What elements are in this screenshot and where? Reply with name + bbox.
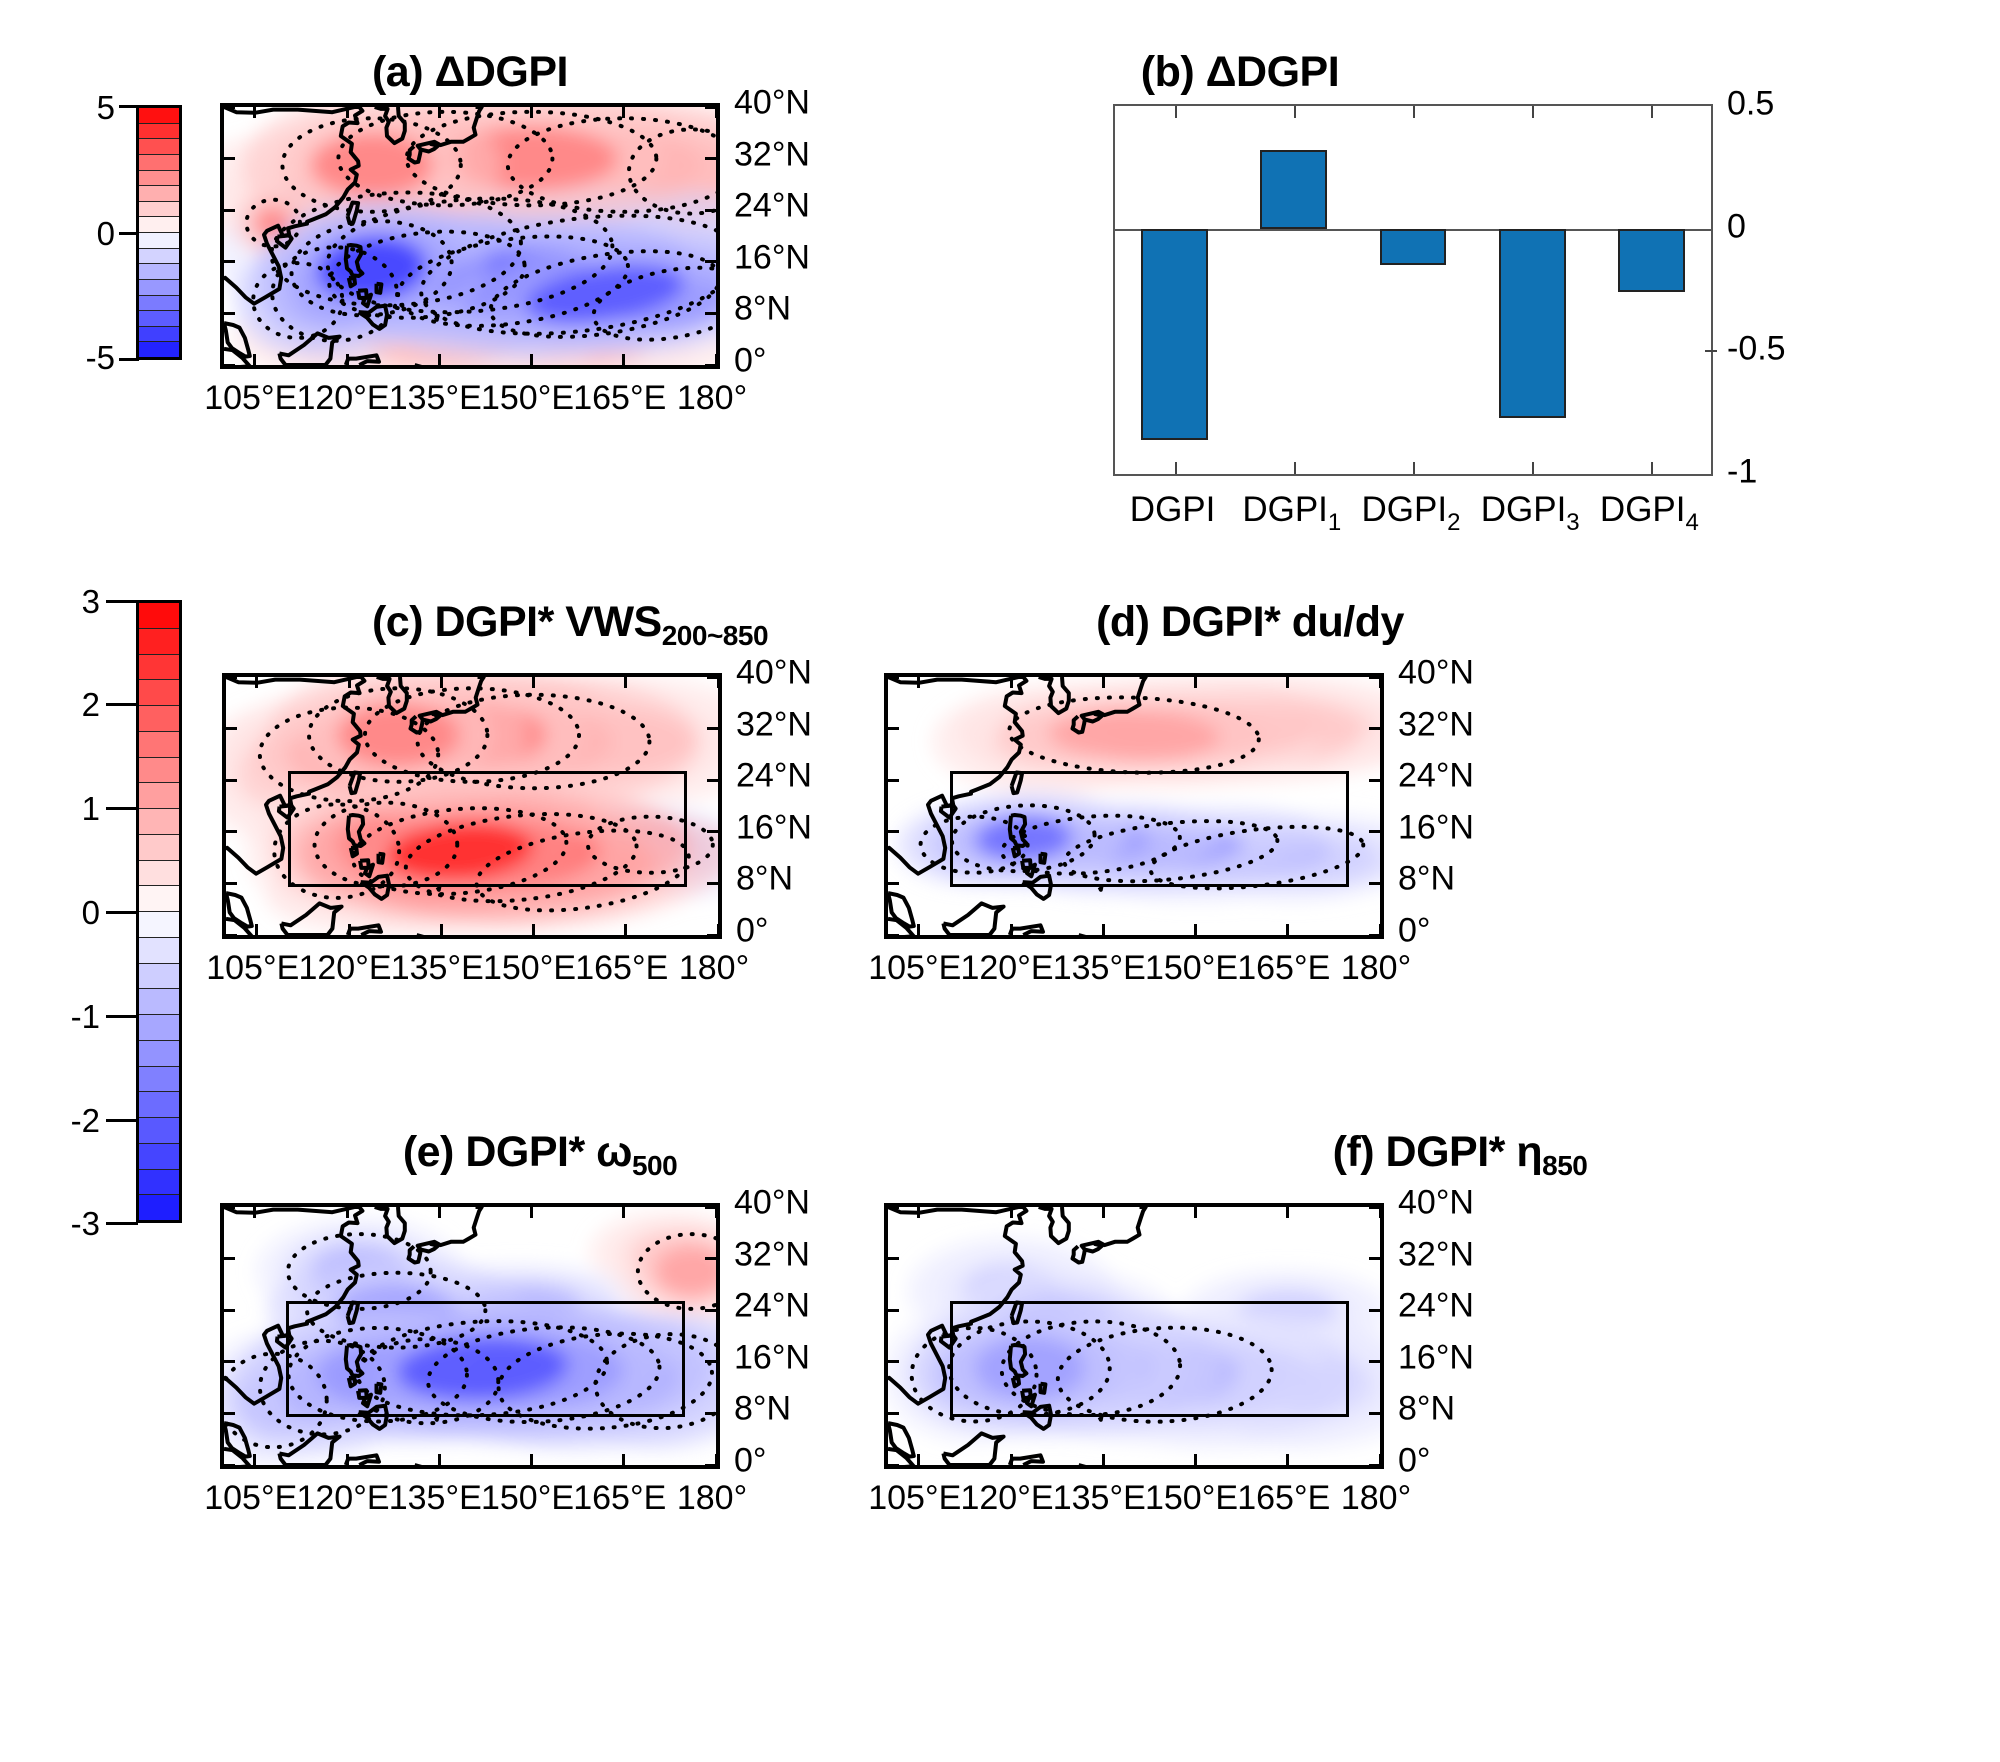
panel-b-title: (b) ΔDGPI <box>1020 48 1460 97</box>
lat-label: 24°N <box>734 187 810 226</box>
lon-label: 120°E <box>960 949 1053 988</box>
bar <box>1618 229 1685 293</box>
lat-label: 32°N <box>1398 1235 1474 1274</box>
analysis-region-box <box>950 771 1350 887</box>
panel-e-map <box>220 1203 720 1469</box>
lat-tick <box>888 1206 899 1209</box>
lon-tick <box>346 1454 349 1465</box>
lat-label: 40°N <box>736 654 812 693</box>
lon-tick <box>1102 924 1105 935</box>
colorbar-a <box>136 105 182 360</box>
coastline <box>1010 925 1043 935</box>
lon-tick <box>1102 677 1105 688</box>
bar <box>1260 150 1327 229</box>
lon-label: 150°E <box>1145 1479 1238 1518</box>
lon-tick <box>1286 1207 1289 1218</box>
analysis-region-box <box>950 1301 1350 1417</box>
colorbar-swatch <box>139 327 179 343</box>
colorbar-swatch <box>139 732 179 758</box>
lat-tick <box>1369 1257 1380 1260</box>
colorbar-swatch <box>139 861 179 887</box>
x-category-base: DGPI <box>1130 490 1216 529</box>
colorbar-swatch <box>139 886 179 912</box>
lat-tick <box>1369 1464 1380 1467</box>
lon-label: 135°E <box>1053 1479 1146 1518</box>
lon-tick <box>1286 677 1289 688</box>
lon-tick <box>530 1454 533 1465</box>
colorbar-swatch <box>139 603 179 629</box>
colorbar-swatch <box>139 1118 179 1144</box>
lon-tick <box>917 924 920 935</box>
lon-tick <box>1194 924 1197 935</box>
lat-tick <box>1369 830 1380 833</box>
lat-tick <box>224 106 235 109</box>
x-tick <box>1651 106 1653 118</box>
lon-tick <box>253 354 256 365</box>
lon-tick <box>438 1454 441 1465</box>
lon-label: 180° <box>1341 949 1411 988</box>
lon-label: 105°E <box>204 1479 297 1518</box>
colorbar-swatch <box>139 217 179 233</box>
colorbar-swatch <box>139 912 179 938</box>
bar <box>1499 229 1566 418</box>
coastline <box>1010 1455 1043 1465</box>
lat-tick <box>1369 727 1380 730</box>
panel-f-title-text: (f) DGPI* η <box>1333 1128 1542 1176</box>
lat-tick <box>224 1309 235 1312</box>
lon-label: 165°E <box>1237 949 1330 988</box>
colorbar-a-label-min: -5 <box>55 339 115 377</box>
colorbar-cdef-label-2: 2 <box>55 686 100 724</box>
lon-tick <box>715 107 718 118</box>
colorbar-cdef-label-m2: -2 <box>40 1102 100 1140</box>
lon-tick <box>255 677 258 688</box>
x-category-subscript: 4 <box>1686 509 1699 536</box>
lat-label: 24°N <box>1398 757 1474 796</box>
lon-tick <box>715 1207 718 1218</box>
lat-tick <box>226 934 237 937</box>
lon-tick <box>438 1207 441 1218</box>
lon-tick <box>253 107 256 118</box>
lat-tick <box>705 209 716 212</box>
lon-label: 120°E <box>296 379 389 418</box>
colorbar-a-tick-max <box>119 105 139 108</box>
colorbar-swatch <box>139 1041 179 1067</box>
colorbar-cdef-tick-0 <box>106 911 138 914</box>
colorbar-swatch <box>139 124 179 140</box>
lat-tick <box>1369 1412 1380 1415</box>
lat-tick <box>705 1360 716 1363</box>
panel-e-title-sub: 500 <box>632 1150 677 1181</box>
lon-tick <box>622 1454 625 1465</box>
lat-tick <box>707 727 718 730</box>
panel-c-title-sub: 200~850 <box>662 620 768 651</box>
lat-tick <box>705 260 716 263</box>
lon-label: 105°E <box>868 1479 961 1518</box>
lat-tick <box>707 676 718 679</box>
colorbar-swatch <box>139 809 179 835</box>
coastline <box>436 1417 438 1420</box>
x-tick <box>1413 106 1415 118</box>
lat-tick <box>1369 934 1380 937</box>
lat-tick <box>1369 676 1380 679</box>
x-tick <box>1175 462 1177 474</box>
colorbar-swatch <box>139 989 179 1015</box>
lon-tick <box>253 1207 256 1218</box>
lon-label: 165°E <box>573 1479 666 1518</box>
colorbar-swatch <box>139 758 179 784</box>
lat-label: 32°N <box>736 705 812 744</box>
lat-label: 24°N <box>736 757 812 796</box>
lat-label: 8°N <box>734 290 791 329</box>
lat-tick <box>707 830 718 833</box>
lon-tick <box>917 677 920 688</box>
coastline <box>1100 887 1102 890</box>
colorbar-swatch <box>139 1144 179 1170</box>
lat-tick <box>707 779 718 782</box>
lon-label: 135°E <box>389 379 482 418</box>
colorbar-swatch <box>139 108 179 124</box>
coastline <box>346 1455 379 1465</box>
colorbar-swatch <box>139 155 179 171</box>
lat-label: 8°N <box>1398 1390 1455 1429</box>
colorbar-swatch <box>139 139 179 155</box>
lat-tick <box>226 830 237 833</box>
panel-c-map <box>222 673 722 939</box>
lon-tick <box>440 924 443 935</box>
lon-tick <box>1010 924 1013 935</box>
x-category-label: DGPI <box>1130 490 1216 530</box>
x-category-subscript: 3 <box>1566 509 1579 536</box>
lat-tick <box>705 1206 716 1209</box>
lon-label: 150°E <box>1145 949 1238 988</box>
lat-tick <box>226 676 237 679</box>
x-category-base: DGPI <box>1362 490 1448 529</box>
lon-tick <box>1286 1454 1289 1465</box>
colorbar-swatch <box>139 233 179 249</box>
lat-tick <box>226 779 237 782</box>
lat-tick <box>224 209 235 212</box>
panel-f-title-sub: 850 <box>1542 1150 1587 1181</box>
lat-tick <box>705 1257 716 1260</box>
coastline <box>1039 1207 1069 1243</box>
coastline <box>1100 1417 1102 1420</box>
lon-tick <box>346 354 349 365</box>
lon-label: 180° <box>679 949 749 988</box>
lat-label: 16°N <box>734 1338 810 1377</box>
lon-tick <box>530 107 533 118</box>
panel-f-title: (f) DGPI* η850 <box>1230 1128 1690 1182</box>
lon-tick <box>346 107 349 118</box>
lon-tick <box>1010 1207 1013 1218</box>
lat-tick <box>888 1412 899 1415</box>
bar <box>1141 229 1208 440</box>
y-axis-label: 0.5 <box>1727 85 1774 124</box>
lon-tick <box>622 354 625 365</box>
lat-tick <box>888 1464 899 1467</box>
lat-label: 40°N <box>734 1184 810 1223</box>
lat-tick <box>888 1257 899 1260</box>
lon-tick <box>1010 677 1013 688</box>
lon-tick <box>1194 1207 1197 1218</box>
colorbar-swatch <box>139 1015 179 1041</box>
panel-b-title-text: (b) ΔDGPI <box>1141 48 1339 96</box>
colorbar-swatch <box>139 1170 179 1196</box>
lon-tick <box>1379 1207 1382 1218</box>
lat-label: 24°N <box>1398 1287 1474 1326</box>
lat-label: 40°N <box>734 84 810 123</box>
lat-label: 32°N <box>734 135 810 174</box>
colorbar-cdef-label-0: 0 <box>55 894 100 932</box>
lat-tick <box>888 1360 899 1363</box>
colorbar-cdef-tick-m1 <box>106 1015 138 1018</box>
lat-label: 8°N <box>734 1390 791 1429</box>
x-category-base: DGPI <box>1600 490 1686 529</box>
panel-b-barchart <box>1113 104 1713 476</box>
lat-label: 40°N <box>1398 654 1474 693</box>
lon-label: 135°E <box>1053 949 1146 988</box>
lat-label: 24°N <box>734 1287 810 1326</box>
x-category-label: DGPI4 <box>1600 490 1699 537</box>
map-canvas <box>224 107 716 365</box>
lon-tick <box>532 924 535 935</box>
lon-tick <box>1102 1454 1105 1465</box>
lon-tick <box>1194 1454 1197 1465</box>
coastline <box>438 887 440 890</box>
lon-tick <box>440 677 443 688</box>
y-axis-label: -1 <box>1727 453 1757 492</box>
x-tick <box>1532 462 1534 474</box>
lat-tick <box>1369 1360 1380 1363</box>
lon-label: 180° <box>677 1479 747 1518</box>
colorbar-swatch <box>139 629 179 655</box>
colorbar-a-tick-min <box>119 358 139 361</box>
x-category-label: DGPI1 <box>1242 490 1341 537</box>
colorbar-swatch <box>139 783 179 809</box>
lon-tick <box>1286 924 1289 935</box>
colorbar-swatch <box>139 1195 179 1220</box>
lat-tick <box>224 260 235 263</box>
lon-label: 120°E <box>960 1479 1053 1518</box>
lon-label: 105°E <box>204 379 297 418</box>
colorbar-cdef-label-m3: -3 <box>40 1205 100 1243</box>
lat-label: 0° <box>1398 912 1431 951</box>
y-tick <box>1705 350 1717 352</box>
lat-tick <box>224 1257 235 1260</box>
lon-label: 150°E <box>483 949 576 988</box>
colorbar-cdef-label-3: 3 <box>55 583 100 621</box>
lon-tick <box>1010 1454 1013 1465</box>
lat-tick <box>224 312 235 315</box>
lat-tick <box>1369 1206 1380 1209</box>
lon-tick <box>622 107 625 118</box>
lon-label: 150°E <box>481 1479 574 1518</box>
colorbar-swatch <box>139 311 179 327</box>
lat-tick <box>888 727 899 730</box>
analysis-region-box <box>286 1301 686 1417</box>
lon-label: 105°E <box>868 949 961 988</box>
lon-label: 135°E <box>391 949 484 988</box>
colorbar-swatch <box>139 1092 179 1118</box>
lat-tick <box>707 882 718 885</box>
lon-tick <box>1194 677 1197 688</box>
panel-a-title: (a) ΔDGPI <box>220 48 720 97</box>
lat-tick <box>1369 779 1380 782</box>
colorbar-swatch <box>139 1067 179 1093</box>
lat-tick <box>226 727 237 730</box>
panel-c-title: (c) DGPI* VWS200~850 <box>250 598 890 652</box>
lon-tick <box>438 107 441 118</box>
lat-tick <box>226 882 237 885</box>
lon-label: 180° <box>677 379 747 418</box>
lat-label: 0° <box>734 1442 767 1481</box>
coastline <box>1073 1207 1146 1263</box>
x-tick <box>1294 462 1296 474</box>
colorbar-cdef-label-m1: -1 <box>40 998 100 1036</box>
lon-label: 165°E <box>1237 1479 1330 1518</box>
panel-a-title-text: (a) ΔDGPI <box>372 48 568 96</box>
lon-tick <box>624 677 627 688</box>
lon-label: 105°E <box>206 949 299 988</box>
lat-tick <box>888 676 899 679</box>
colorbar-a-label-max: 5 <box>70 89 115 127</box>
lat-tick <box>888 934 899 937</box>
coastline <box>377 284 382 293</box>
x-category-base: DGPI <box>1481 490 1567 529</box>
colorbar-swatch <box>139 655 179 681</box>
lon-label: 135°E <box>389 1479 482 1518</box>
lon-tick <box>346 1207 349 1218</box>
lat-label: 0° <box>736 912 769 951</box>
lon-tick <box>438 354 441 365</box>
x-category-base: DGPI <box>1242 490 1328 529</box>
colorbar-cdef <box>136 600 182 1223</box>
lat-label: 32°N <box>734 1235 810 1274</box>
panel-c-title-text: (c) DGPI* VWS <box>372 598 662 646</box>
lat-tick <box>705 1309 716 1312</box>
colorbar-swatch <box>139 706 179 732</box>
lon-label: 150°E <box>481 379 574 418</box>
lon-tick <box>532 677 535 688</box>
lon-label: 120°E <box>298 949 391 988</box>
colorbar-swatch <box>139 296 179 312</box>
panel-d-title-text: (d) DGPI* du/dy <box>1096 598 1404 646</box>
panel-e-title-text: (e) DGPI* ω <box>403 1128 632 1176</box>
lon-tick <box>255 924 258 935</box>
lat-tick <box>888 830 899 833</box>
x-tick <box>1175 106 1177 118</box>
analysis-region-box <box>288 771 688 887</box>
colorbar-swatch <box>139 938 179 964</box>
x-category-subscript: 1 <box>1328 509 1341 536</box>
colorbar-swatch <box>139 249 179 265</box>
lat-tick <box>1369 1309 1380 1312</box>
colorbar-swatch <box>139 835 179 861</box>
colorbar-swatch <box>139 202 179 218</box>
lat-tick <box>224 1360 235 1363</box>
lat-label: 16°N <box>734 238 810 277</box>
lat-label: 8°N <box>1398 860 1455 899</box>
lat-label: 32°N <box>1398 705 1474 744</box>
colorbar-cdef-tick-2 <box>106 703 138 706</box>
coastline <box>436 317 438 320</box>
colorbar-cdef-tick-3 <box>106 600 138 603</box>
x-category-label: DGPI3 <box>1481 490 1580 537</box>
lon-tick <box>624 924 627 935</box>
lat-tick <box>705 106 716 109</box>
lat-label: 16°N <box>1398 808 1474 847</box>
lat-tick <box>224 1412 235 1415</box>
lat-tick <box>224 1464 235 1467</box>
lat-tick <box>705 157 716 160</box>
colorbar-cdef-label-1: 1 <box>55 790 100 828</box>
lon-label: 120°E <box>296 1479 389 1518</box>
x-tick <box>1532 106 1534 118</box>
lat-tick <box>705 1464 716 1467</box>
colorbar-a-label-mid: 0 <box>70 215 115 253</box>
lat-tick <box>707 934 718 937</box>
lat-label: 8°N <box>736 860 793 899</box>
lon-label: 165°E <box>573 379 666 418</box>
panel-d-map <box>884 673 1384 939</box>
lat-tick <box>705 364 716 367</box>
lat-label: 0° <box>734 342 767 381</box>
lat-label: 0° <box>1398 1442 1431 1481</box>
x-tick <box>1413 462 1415 474</box>
lon-tick <box>1379 677 1382 688</box>
bar <box>1380 229 1447 266</box>
colorbar-swatch <box>139 680 179 706</box>
lon-label: 180° <box>1341 1479 1411 1518</box>
colorbar-swatch <box>139 186 179 202</box>
lon-tick <box>253 1454 256 1465</box>
lat-tick <box>888 1309 899 1312</box>
lat-tick <box>705 312 716 315</box>
coastline <box>943 903 1003 935</box>
lat-label: 16°N <box>1398 1338 1474 1377</box>
lat-tick <box>705 1412 716 1415</box>
y-axis-label: -0.5 <box>1727 330 1786 369</box>
colorbar-swatch <box>139 264 179 280</box>
lat-tick <box>224 157 235 160</box>
lon-label: 165°E <box>575 949 668 988</box>
lat-tick <box>888 882 899 885</box>
x-category-label: DGPI2 <box>1362 490 1461 537</box>
colorbar-swatch <box>139 171 179 187</box>
y-axis-label: 0 <box>1727 207 1746 246</box>
colorbar-cdef-tick-m2 <box>106 1119 138 1122</box>
panel-d-title: (d) DGPI* du/dy <box>1000 598 1500 647</box>
x-tick <box>1651 462 1653 474</box>
panel-a-map <box>220 103 720 369</box>
lon-tick <box>717 677 720 688</box>
colorbar-cdef-tick-1 <box>106 807 138 810</box>
lon-tick <box>348 924 351 935</box>
x-category-subscript: 2 <box>1447 509 1460 536</box>
panel-e-title: (e) DGPI* ω500 <box>280 1128 800 1182</box>
colorbar-swatch <box>139 280 179 296</box>
figure-root: 5 0 -5 3 2 1 0 -1 -2 -3 (a) ΔDGPI (b) ΔD… <box>0 0 2000 1762</box>
colorbar-a-tick-mid <box>119 232 139 235</box>
colorbar-swatch <box>139 342 179 357</box>
lat-label: 40°N <box>1398 1184 1474 1223</box>
lon-tick <box>622 1207 625 1218</box>
lon-tick <box>530 354 533 365</box>
lon-tick <box>917 1454 920 1465</box>
lon-tick <box>917 1207 920 1218</box>
lon-tick <box>530 1207 533 1218</box>
colorbar-cdef-tick-m3 <box>106 1222 138 1225</box>
